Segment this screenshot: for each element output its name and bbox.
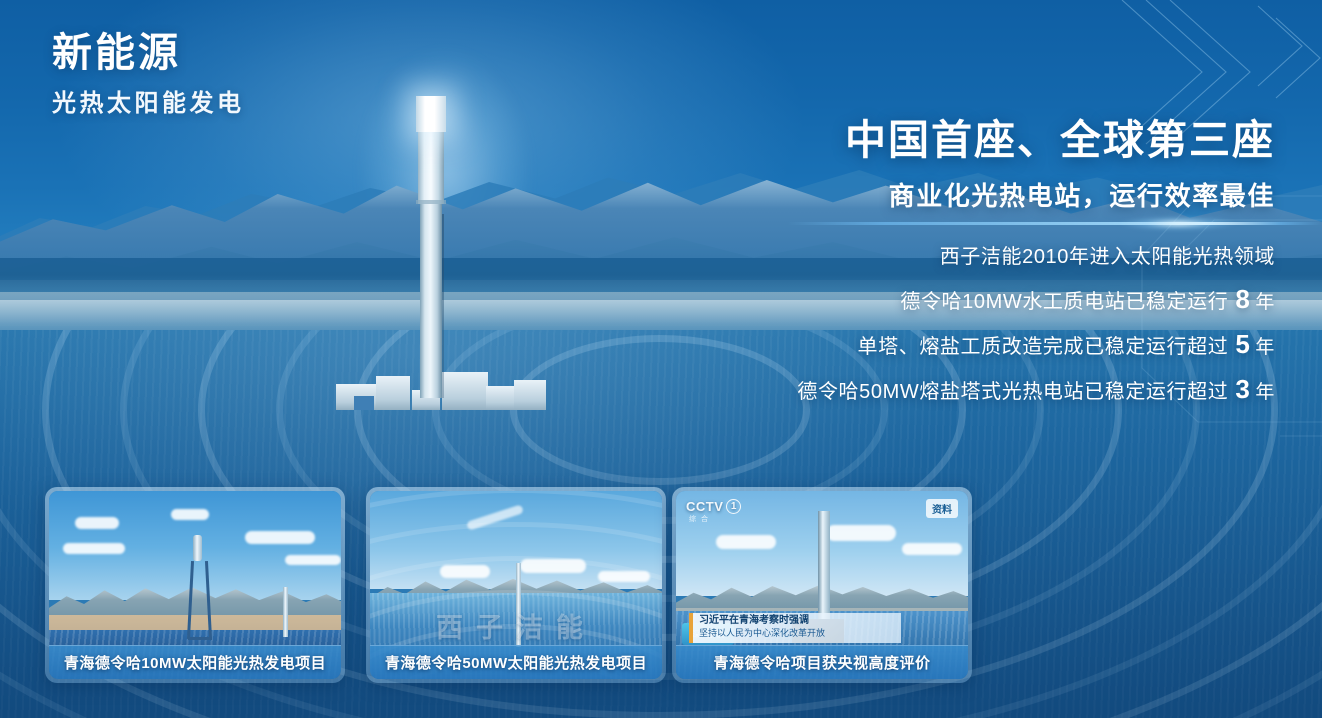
fact-unit: 年 — [1255, 382, 1275, 403]
subheadline: 商业化光热电站，运行效率最佳 — [715, 176, 1275, 213]
project-card-10mw[interactable]: 青海德令哈10MW太阳能光热发电项目 — [45, 487, 345, 683]
card-caption-10mw: 青海德令哈10MW太阳能光热发电项目 — [49, 645, 341, 679]
fact-unit: 年 — [1255, 337, 1275, 358]
news-ticker: 习近平在青海考察时强调 坚持以人民为中心深化改革开放 — [689, 613, 901, 643]
fact-line: 德令哈10MW水工质电站已稳定运行8年 — [715, 286, 1275, 312]
cctv-wordmark: CCTV — [686, 499, 723, 514]
fact-number: 8 — [1228, 284, 1255, 314]
cloud-shape — [171, 509, 209, 520]
project-card-cctv[interactable]: CCTV 1 综合 资料 深入解读 习近平在青海考察时强调 坚持以人民为中心深化… — [672, 487, 972, 683]
solar-tower — [412, 96, 450, 398]
card-caption-50mw: 青海德令哈50MW太阳能光热发电项目 — [370, 645, 662, 679]
accent-divider — [788, 222, 1322, 225]
project-gallery: 青海德令哈10MW太阳能光热发电项目 西子洁能 青海德令哈50MW太阳能光热发电… — [45, 487, 987, 683]
tower-crossbar — [188, 637, 212, 640]
fact-number: 5 — [1228, 329, 1255, 359]
slide-canvas: 新能源 光热太阳能发电 中国首座、全球第三座 商业化光热电站，运行效率最佳 西子… — [0, 0, 1322, 718]
card-image-10mw: 青海德令哈10MW太阳能光热发电项目 — [49, 491, 341, 679]
page-subtitle: 光热太阳能发电 — [52, 83, 245, 118]
thumb-receiver — [193, 535, 202, 561]
tower-shaft-lower — [420, 198, 442, 398]
cloud-shape — [75, 517, 119, 529]
cctv-logo-icon: CCTV 1 — [686, 499, 741, 514]
fact-line: 德令哈50MW熔盐塔式光热电站已稳定运行超过3年 — [715, 376, 1275, 402]
fact-unit: 年 — [1255, 292, 1275, 313]
thumb-secondary-tower — [283, 587, 288, 637]
fact-text: 德令哈50MW熔盐塔式光热电站已稳定运行超过 — [797, 381, 1228, 403]
fact-line: 西子洁能2010年进入太阳能光热领域 — [715, 247, 1275, 267]
fact-number: 3 — [1228, 374, 1255, 404]
page-title: 新能源 — [52, 30, 245, 77]
archive-badge: 资料 — [926, 499, 958, 518]
fact-text: 德令哈10MW水工质电站已稳定运行 — [900, 291, 1228, 313]
tower-shaft-upper — [418, 126, 444, 204]
page-title-block: 新能源 光热太阳能发电 — [52, 30, 245, 118]
cctv-channel-number: 1 — [726, 499, 741, 514]
fact-text: 西子洁能2010年进入太阳能光热领域 — [940, 246, 1275, 268]
project-card-50mw[interactable]: 西子洁能 青海德令哈50MW太阳能光热发电项目 — [366, 487, 666, 683]
card-image-50mw: 西子洁能 青海德令哈50MW太阳能光热发电项目 — [370, 491, 662, 679]
card-caption-cctv: 青海德令哈项目获央视高度评价 — [676, 645, 968, 679]
cloud-shape — [245, 531, 315, 544]
cloud-shape — [63, 543, 125, 554]
ticker-subline: 坚持以人民为中心深化改革开放 — [699, 628, 895, 639]
cloud-shape — [826, 525, 896, 541]
cctv-channel-sub: 综合 — [689, 514, 713, 524]
tower-receiver — [416, 96, 446, 132]
fact-line: 单塔、熔盐工质改造完成已稳定运行超过5年 — [715, 331, 1275, 357]
cloud-shape — [716, 535, 776, 549]
tower-band-lower — [416, 200, 446, 204]
ticker-headline: 习近平在青海考察时强调 — [699, 615, 895, 628]
cloud-shape — [902, 543, 962, 555]
card-image-cctv: CCTV 1 综合 资料 深入解读 习近平在青海考察时强调 坚持以人民为中心深化… — [676, 491, 968, 679]
fact-text: 单塔、熔盐工质改造完成已稳定运行超过 — [858, 336, 1229, 358]
highlight-panel: 中国首座、全球第三座 商业化光热电站，运行效率最佳 西子洁能2010年进入太阳能… — [715, 118, 1275, 421]
facts-list: 西子洁能2010年进入太阳能光热领域德令哈10MW水工质电站已稳定运行8年单塔、… — [715, 247, 1275, 402]
cloud-shape — [285, 555, 341, 565]
watermark: 西子洁能 — [370, 606, 662, 645]
headline: 中国首座、全球第三座 — [715, 118, 1275, 164]
